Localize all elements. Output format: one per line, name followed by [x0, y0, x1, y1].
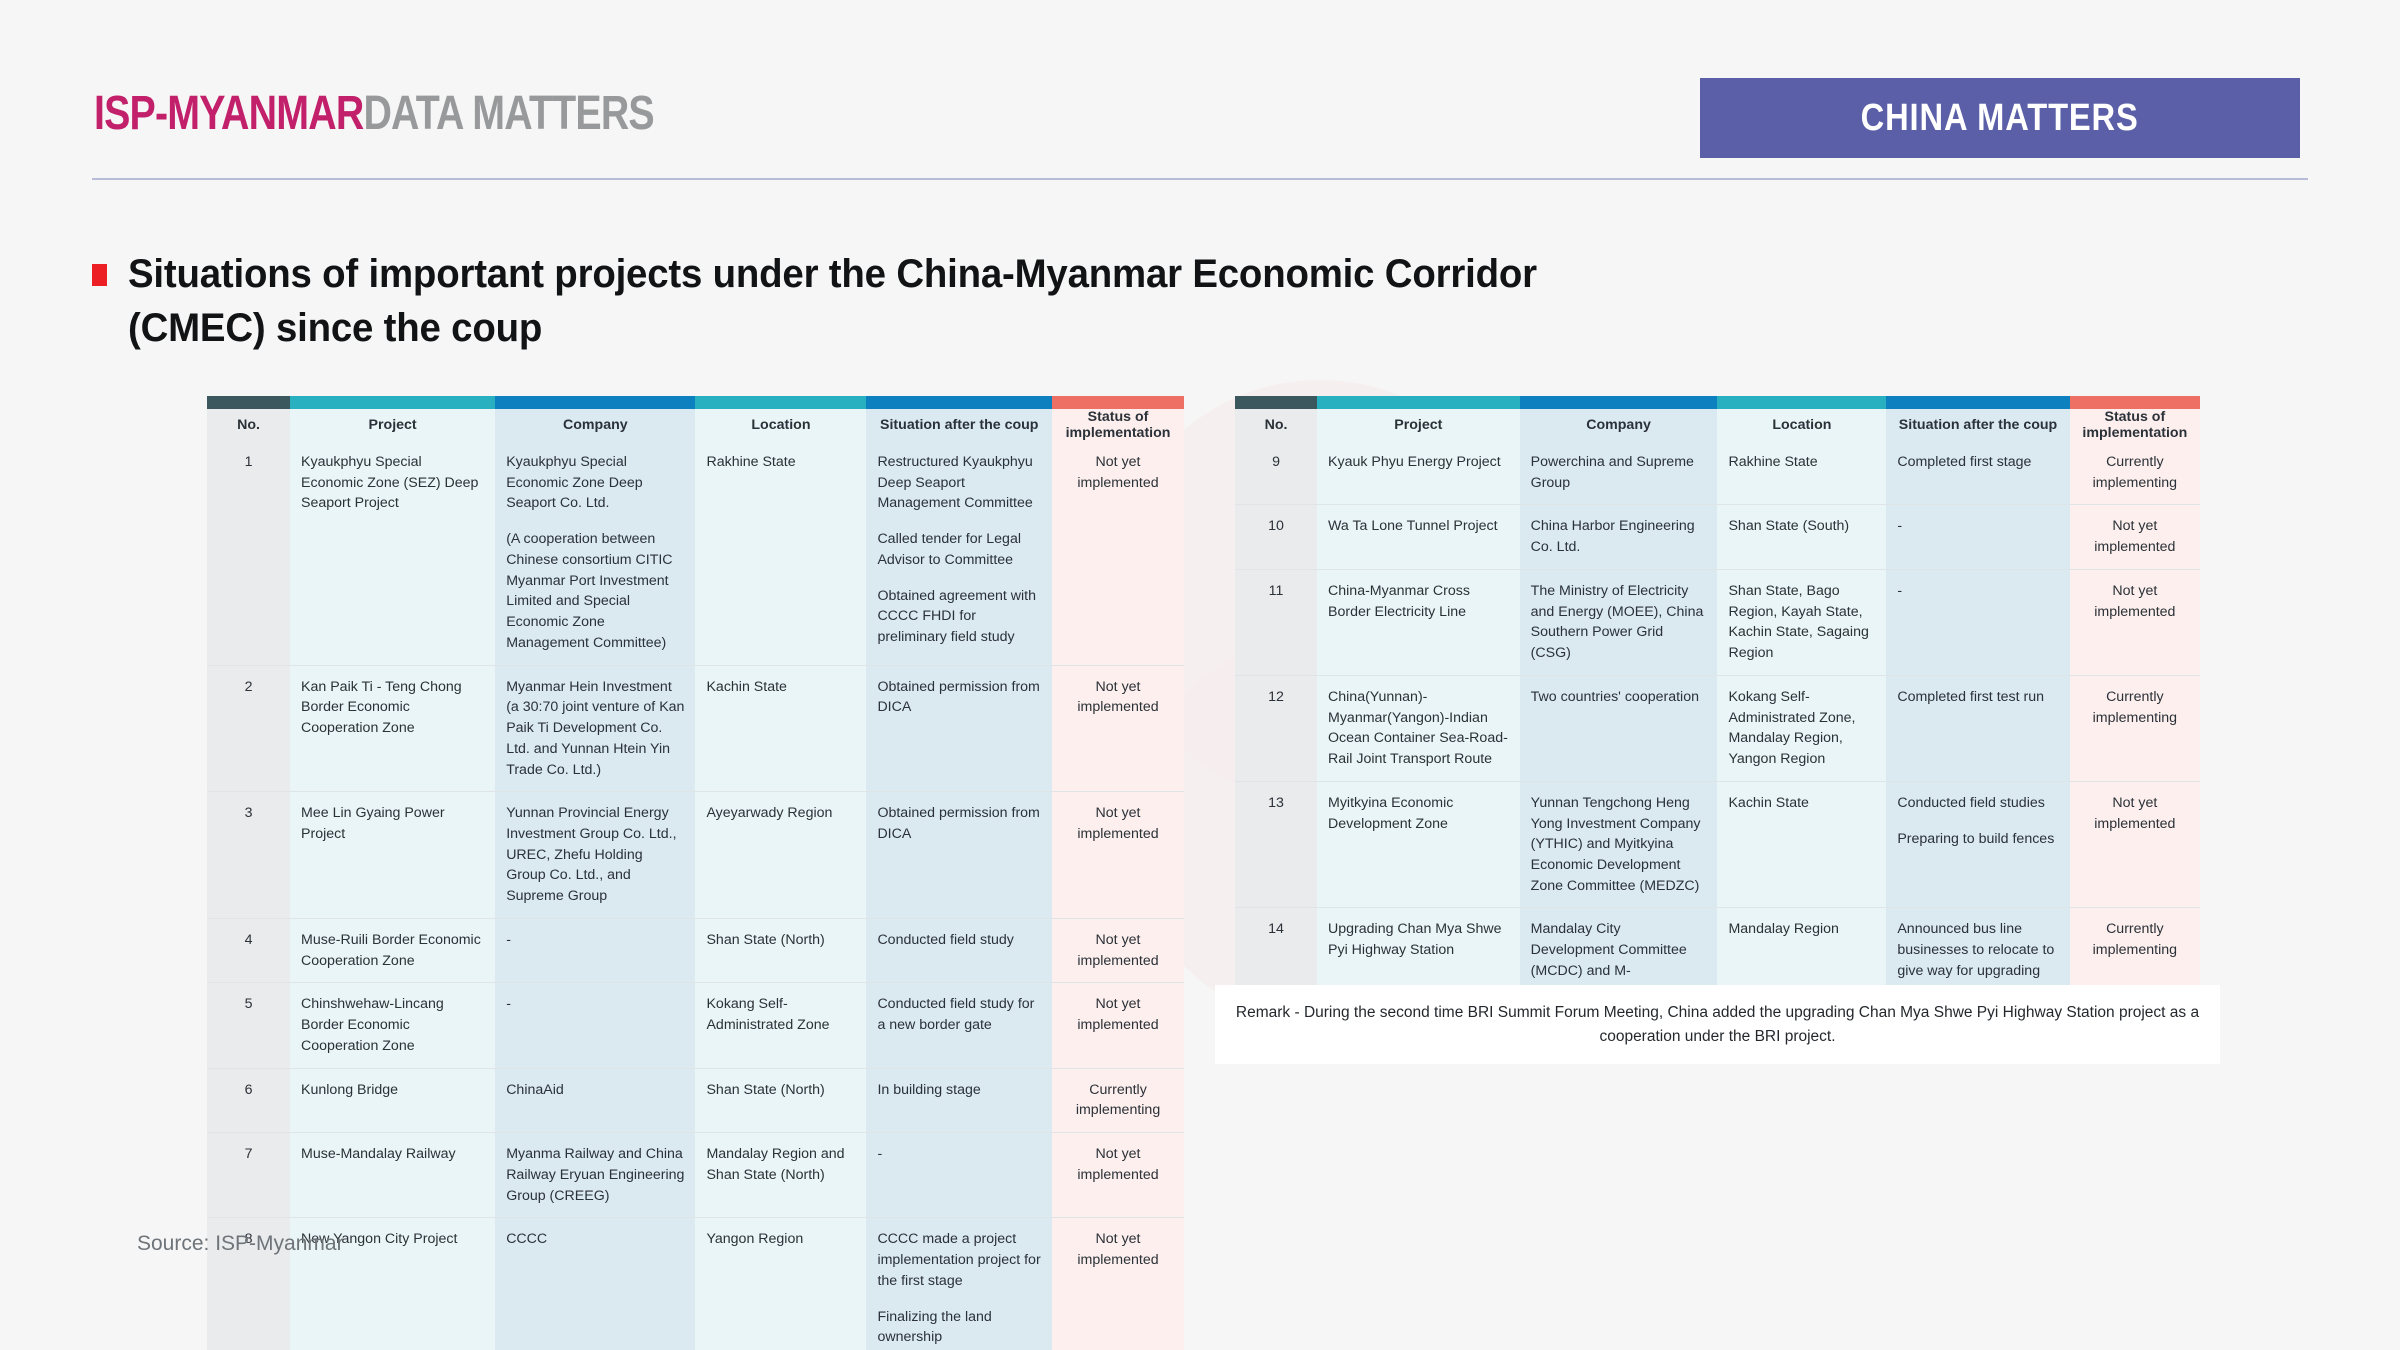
- cell-no: 13: [1235, 781, 1317, 908]
- cell-situation: Conducted field study: [866, 918, 1052, 982]
- cell-company: Yunnan Provincial Energy Investment Grou…: [495, 792, 695, 919]
- cell-company: Powerchina and Supreme Group: [1520, 441, 1718, 505]
- color-bar-situation: [1886, 396, 2069, 409]
- table-row[interactable]: 11China-Myanmar Cross Border Electricity…: [1235, 569, 2200, 675]
- cell-company: Myanmar Hein Investment (a 30:70 joint v…: [495, 665, 695, 792]
- cell-situation: -: [1886, 505, 2069, 569]
- column-header-project: Project: [1317, 409, 1520, 441]
- cell-project: Chinshwehaw-Lincang Border Economic Coop…: [290, 983, 495, 1068]
- cell-situation: In building stage: [866, 1068, 1052, 1132]
- cell-no: 10: [1235, 505, 1317, 569]
- table-row[interactable]: 5Chinshwehaw-Lincang Border Economic Coo…: [207, 983, 1184, 1068]
- cell-no: 3: [207, 792, 290, 919]
- table-header-row: No. Project Company Location Situation a…: [207, 409, 1184, 441]
- color-bar-location: [695, 396, 866, 409]
- cell-location: Ayeyarwady Region: [695, 792, 866, 919]
- column-color-bar-row: [1235, 396, 2200, 409]
- cell-status: Not yet implemented: [2070, 781, 2200, 908]
- brand-logo: ISP-MYANMARDATA MATTERS: [94, 86, 654, 141]
- remark-box: Remark - During the second time BRI Summ…: [1215, 985, 2220, 1064]
- cell-location: Shan State (South): [1717, 505, 1886, 569]
- cell-company: Two countries' cooperation: [1520, 675, 1718, 781]
- cell-no: 5: [207, 983, 290, 1068]
- cell-project: Kunlong Bridge: [290, 1068, 495, 1132]
- cell-status: Not yet implemented: [1052, 983, 1184, 1068]
- page-title-text: Situations of important projects under t…: [128, 248, 1629, 355]
- cell-no: 9: [1235, 441, 1317, 505]
- cell-location: Rakhine State: [695, 441, 866, 665]
- cell-project: Wa Ta Lone Tunnel Project: [1317, 505, 1520, 569]
- cell-project: Muse-Mandalay Railway: [290, 1133, 495, 1218]
- table-row[interactable]: 6Kunlong BridgeChinaAidShan State (North…: [207, 1068, 1184, 1132]
- brand-logo-secondary: DATA MATTERS: [363, 87, 653, 140]
- cell-status: Currently implementing: [1052, 1068, 1184, 1132]
- column-header-project: Project: [290, 409, 495, 441]
- cell-company: China Harbor Engineering Co. Ltd.: [1520, 505, 1718, 569]
- cell-status: Not yet implemented: [1052, 1133, 1184, 1218]
- cell-project: Kyaukphyu Special Economic Zone (SEZ) De…: [290, 441, 495, 665]
- china-matters-banner: CHINA MATTERS: [1700, 78, 2300, 158]
- cell-company: -: [495, 983, 695, 1068]
- cell-situation: Obtained permission from DICA: [866, 792, 1052, 919]
- table-row[interactable]: 10Wa Ta Lone Tunnel ProjectChina Harbor …: [1235, 505, 2200, 569]
- table-row[interactable]: 8New Yangon City ProjectCCCCYangon Regio…: [207, 1218, 1184, 1350]
- projects-table-left: No. Project Company Location Situation a…: [207, 396, 1184, 1350]
- cell-status: Not yet implemented: [2070, 569, 2200, 675]
- column-header-no: No.: [1235, 409, 1317, 441]
- cell-status: Currently implementing: [2070, 441, 2200, 505]
- table-row[interactable]: 9Kyauk Phyu Energy ProjectPowerchina and…: [1235, 441, 2200, 505]
- cell-no: 7: [207, 1133, 290, 1218]
- color-bar-no: [207, 396, 290, 409]
- cell-location: Shan State, Bago Region, Kayah State, Ka…: [1717, 569, 1886, 675]
- china-matters-banner-label: CHINA MATTERS: [1861, 97, 2139, 140]
- table-row[interactable]: 1Kyaukphyu Special Economic Zone (SEZ) D…: [207, 441, 1184, 665]
- cell-status: Not yet implemented: [1052, 918, 1184, 982]
- cell-location: Kachin State: [1717, 781, 1886, 908]
- cell-company: ChinaAid: [495, 1068, 695, 1132]
- column-header-status: Status of implementation: [2070, 409, 2200, 441]
- table-row[interactable]: 4Muse-Ruili Border Economic Cooperation …: [207, 918, 1184, 982]
- cell-location: Shan State (North): [695, 918, 866, 982]
- table-row[interactable]: 3Mee Lin Gyaing Power ProjectYunnan Prov…: [207, 792, 1184, 919]
- cell-project: China-Myanmar Cross Border Electricity L…: [1317, 569, 1520, 675]
- cell-location: Rakhine State: [1717, 441, 1886, 505]
- cell-situation: CCCC made a project implementation proje…: [866, 1218, 1052, 1350]
- projects-table-left-body: 1Kyaukphyu Special Economic Zone (SEZ) D…: [207, 441, 1184, 1350]
- cell-situation: Conducted field study for a new border g…: [866, 983, 1052, 1068]
- cell-no: 6: [207, 1068, 290, 1132]
- cell-situation: Completed first test run: [1886, 675, 2069, 781]
- table-row[interactable]: 12China(Yunnan)-Myanmar(Yangon)-Indian O…: [1235, 675, 2200, 781]
- color-bar-situation: [866, 396, 1052, 409]
- color-bar-company: [1520, 396, 1718, 409]
- cell-no: 1: [207, 441, 290, 665]
- cell-status: Not yet implemented: [2070, 505, 2200, 569]
- column-header-status: Status of implementation: [1052, 409, 1184, 441]
- color-bar-no: [1235, 396, 1317, 409]
- cell-no: 4: [207, 918, 290, 982]
- table-row[interactable]: 13Myitkyina Economic Development ZoneYun…: [1235, 781, 2200, 908]
- projects-table-right: No. Project Company Location Situation a…: [1235, 396, 2200, 1013]
- cell-situation: Restructured Kyaukphyu Deep Seaport Mana…: [866, 441, 1052, 665]
- column-header-situation: Situation after the coup: [1886, 409, 2069, 441]
- color-bar-company: [495, 396, 695, 409]
- table-row[interactable]: 7Muse-Mandalay RailwayMyanma Railway and…: [207, 1133, 1184, 1218]
- cell-location: Yangon Region: [695, 1218, 866, 1350]
- cell-situation: Obtained permission from DICA: [866, 665, 1052, 792]
- column-header-no: No.: [207, 409, 290, 441]
- column-header-location: Location: [695, 409, 866, 441]
- cell-situation: -: [1886, 569, 2069, 675]
- column-header-company: Company: [495, 409, 695, 441]
- cell-location: Kokang Self-Administrated Zone, Mandalay…: [1717, 675, 1886, 781]
- cell-status: Not yet implemented: [1052, 665, 1184, 792]
- title-bullet-icon: [92, 264, 107, 286]
- cell-company: Myanma Railway and China Railway Eryuan …: [495, 1133, 695, 1218]
- brand-logo-primary: ISP-MYANMAR: [94, 87, 363, 140]
- cell-project: Muse-Ruili Border Economic Cooperation Z…: [290, 918, 495, 982]
- cell-situation: Conducted field studiesPreparing to buil…: [1886, 781, 2069, 908]
- cell-project: Mee Lin Gyaing Power Project: [290, 792, 495, 919]
- color-bar-status: [1052, 396, 1184, 409]
- header-divider: [92, 178, 2308, 180]
- cell-company: Yunnan Tengchong Heng Yong Investment Co…: [1520, 781, 1718, 908]
- cell-location: Kokang Self-Administrated Zone: [695, 983, 866, 1068]
- slide-canvas: ISP-MYANMARDATA MATTERS CHINA MATTERS Si…: [0, 0, 2400, 1350]
- cell-company: The Ministry of Electricity and Energy (…: [1520, 569, 1718, 675]
- cell-company: -: [495, 918, 695, 982]
- table-header-row: No. Project Company Location Situation a…: [1235, 409, 2200, 441]
- cell-status: Currently implementing: [2070, 675, 2200, 781]
- cell-status: Not yet implemented: [1052, 792, 1184, 919]
- column-color-bar-row: [207, 396, 1184, 409]
- remark-text: Remark - During the second time BRI Summ…: [1225, 1001, 2210, 1048]
- column-header-situation: Situation after the coup: [866, 409, 1052, 441]
- cell-project: Kan Paik Ti - Teng Chong Border Economic…: [290, 665, 495, 792]
- cell-no: 12: [1235, 675, 1317, 781]
- cell-status: Not yet implemented: [1052, 441, 1184, 665]
- cell-company: Kyaukphyu Special Economic Zone Deep Sea…: [495, 441, 695, 665]
- column-header-company: Company: [1520, 409, 1718, 441]
- color-bar-project: [290, 396, 495, 409]
- cell-location: Kachin State: [695, 665, 866, 792]
- color-bar-project: [1317, 396, 1520, 409]
- cell-project: Kyauk Phyu Energy Project: [1317, 441, 1520, 505]
- cell-project: Myitkyina Economic Development Zone: [1317, 781, 1520, 908]
- cell-project: China(Yunnan)-Myanmar(Yangon)-Indian Oce…: [1317, 675, 1520, 781]
- cell-no: 2: [207, 665, 290, 792]
- cell-status: Not yet implemented: [1052, 1218, 1184, 1350]
- cell-no: 11: [1235, 569, 1317, 675]
- cell-situation: -: [866, 1133, 1052, 1218]
- page-title: Situations of important projects under t…: [92, 248, 1692, 355]
- cell-situation: Completed first stage: [1886, 441, 2069, 505]
- table-row[interactable]: 2Kan Paik Ti - Teng Chong Border Economi…: [207, 665, 1184, 792]
- cell-location: Shan State (North): [695, 1068, 866, 1132]
- color-bar-status: [2070, 396, 2200, 409]
- cell-company: CCCC: [495, 1218, 695, 1350]
- projects-table-right-body: 9Kyauk Phyu Energy ProjectPowerchina and…: [1235, 441, 2200, 1013]
- column-header-location: Location: [1717, 409, 1886, 441]
- color-bar-location: [1717, 396, 1886, 409]
- cell-location: Mandalay Region and Shan State (North): [695, 1133, 866, 1218]
- source-label: Source: ISP-Myanmar: [137, 1232, 344, 1256]
